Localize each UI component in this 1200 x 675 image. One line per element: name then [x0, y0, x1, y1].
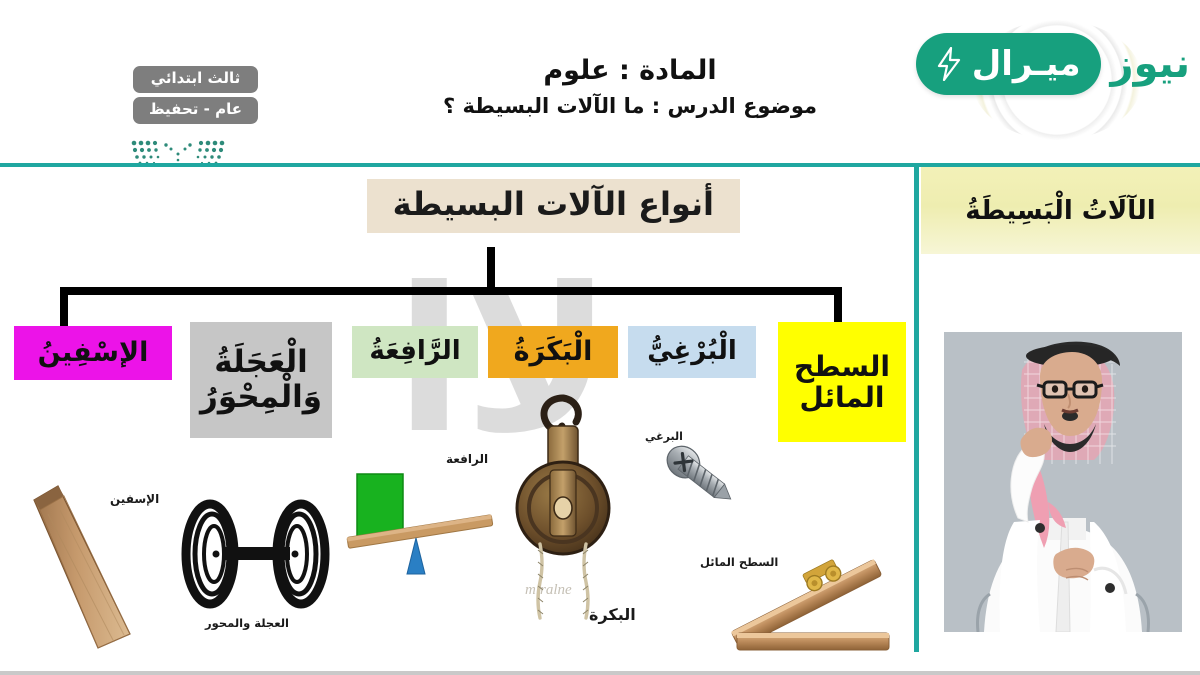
category-label-incline-line1: السطح: [794, 351, 890, 382]
category-chip-lever[interactable]: الرَّافِعَةُ: [352, 326, 478, 378]
category-chip-wheel-axle[interactable]: الْعَجَلَةُ وَالْمِحْوَرُ: [190, 322, 332, 438]
wheel-and-axle-illustration: [178, 492, 333, 617]
category-label-incline-line2: المائل: [800, 382, 885, 413]
category-chip-screw[interactable]: الْبُرْغِيُّ: [628, 326, 756, 378]
grade-badge-track: عام - تحفيظ: [133, 97, 258, 124]
tree-drop-right: [834, 287, 842, 327]
teacher-presenter-video[interactable]: [944, 332, 1182, 632]
slide-header: ثالث ابتدائي عام - تحفيظ: [0, 0, 1200, 165]
brand-news-word: نيوز: [1111, 44, 1190, 84]
pulley-illustration: [508, 392, 618, 622]
brand-pill: ميـرال: [916, 33, 1101, 95]
lesson-topic-line: موضوع الدرس : ما الآلات البسيطة ؟: [390, 92, 870, 121]
category-label-wedge: الإسْفِينُ: [38, 338, 149, 368]
sidebar-title: الآلَاتُ الْبَسِيطَةُ: [921, 167, 1200, 254]
bottom-rule: [0, 671, 1200, 675]
brand-name-word: ميـرال: [972, 47, 1081, 81]
category-chip-inclined-plane[interactable]: السطح المائل: [778, 322, 906, 442]
tree-stem-connector: [487, 247, 495, 290]
tree-horizontal-bar: [60, 287, 842, 295]
subject-line: المادة : علوم: [390, 54, 870, 88]
brand-logo: نيوز ميـرال: [916, 28, 1190, 100]
category-label-pulley: الْبَكَرَةُ: [514, 337, 593, 367]
lever-seesaw-illustration: [345, 462, 495, 592]
sidebar: الآلَاتُ الْبَسِيطَةُ: [919, 167, 1200, 671]
category-chip-wedge[interactable]: الإسْفِينُ: [14, 326, 172, 380]
category-label-wheel-line2: وَالْمِحْوَرُ: [200, 380, 322, 415]
caption-wheel: العجلة والمحور: [205, 616, 289, 630]
category-chip-pulley[interactable]: الْبَكَرَةُ: [488, 326, 618, 378]
category-label-lever: الرَّافِعَةُ: [369, 337, 460, 366]
teacher-presenter-figure: [944, 332, 1182, 632]
category-label-screw: الْبُرْغِيُّ: [647, 337, 737, 366]
caption-lever: الرافعة: [446, 452, 488, 466]
caption-wedge: الإسفين: [110, 492, 159, 506]
caption-pulley: البكرة: [589, 605, 636, 624]
caption-screw: البرغي: [645, 430, 683, 443]
category-label-wheel-line1: الْعَجَلَةُ: [214, 345, 308, 380]
caption-incline: السطح المائل: [700, 555, 778, 569]
lightning-bolt-icon: [936, 47, 962, 81]
lesson-meta: المادة : علوم موضوع الدرس : ما الآلات ال…: [390, 54, 870, 121]
grade-badge-level: ثالث ابتدائي: [133, 66, 258, 93]
tree-drop-left: [60, 287, 68, 327]
diagram-title: أنواع الآلات البسيطة: [367, 179, 740, 233]
slide-root: ثالث ابتدائي عام - تحفيظ: [0, 0, 1200, 675]
grade-badge-group: ثالث ابتدائي عام - تحفيظ: [133, 66, 258, 124]
diagram-board: لاا miralne أنواع الآلات البسيطة الإسْفِ…: [0, 167, 912, 671]
